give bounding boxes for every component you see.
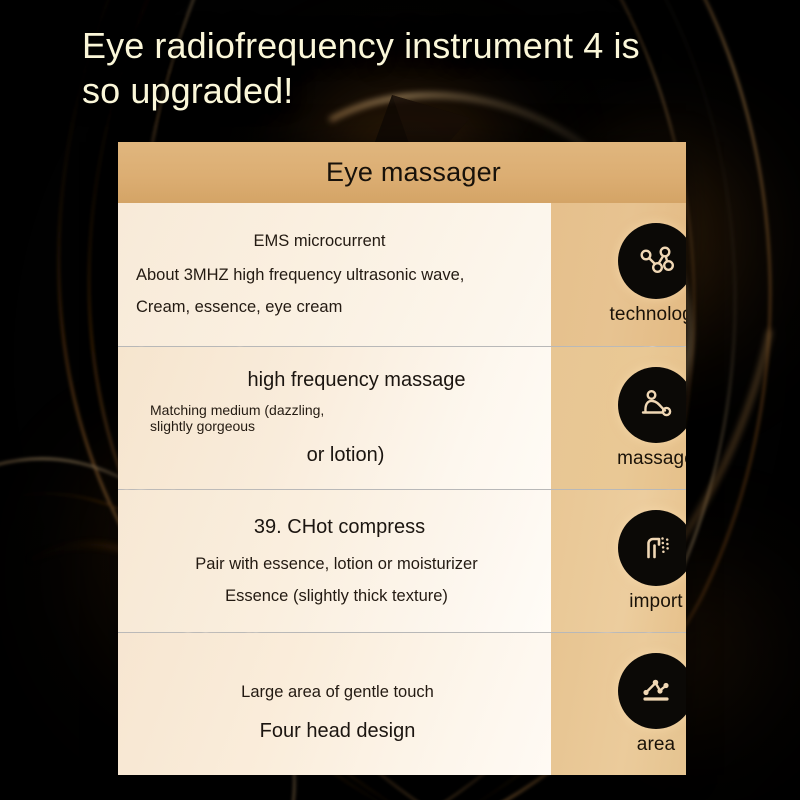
spec-table-title: Eye massager [326,157,501,188]
area-icon [618,653,686,729]
table-row: Large area of gentle touch Four head des… [118,632,686,775]
row-icon-cell: technology [551,203,686,346]
table-row: 39. CHot compress Pair with essence, lot… [118,489,686,632]
row-icon-cell: area [551,633,686,775]
row-text-cell: Large area of gentle touch Four head des… [118,633,551,775]
headline-line-2: so upgraded! [82,69,742,114]
row-detail-line: or lotion) [132,443,541,468]
technology-icon [618,223,686,299]
row-text-cell: high frequency massage Matching medium (… [118,347,551,489]
row-title: high frequency massage [132,368,541,393]
row-title: EMS microcurrent [132,231,541,252]
row-detail-line: Cream, essence, eye cream [132,297,541,318]
row-icon-caption: technology [610,304,686,326]
row-title: Large area of gentle touch [132,682,541,703]
row-icon-caption: area [637,734,675,756]
massage-icon [618,367,686,443]
spec-table-card: Eye massager EMS microcurrent About 3MHZ… [118,142,686,775]
row-icon-cell: massage [551,347,686,489]
row-text-cell: EMS microcurrent About 3MHZ high frequen… [118,203,551,346]
table-row: high frequency massage Matching medium (… [118,346,686,489]
row-text-cell: 39. CHot compress Pair with essence, lot… [118,490,551,632]
spec-table-header: Eye massager [118,142,686,203]
row-detail-line: Four head design [132,719,541,744]
row-detail-line: About 3MHZ high frequency ultrasonic wav… [132,265,541,286]
row-icon-caption: massage [617,448,686,470]
import-icon [618,510,686,586]
spec-table-body: EMS microcurrent About 3MHZ high frequen… [118,203,686,775]
table-row: EMS microcurrent About 3MHZ high frequen… [118,203,686,346]
row-note: Matching medium (dazzling, slightly gorg… [132,402,541,434]
row-icon-caption: import [629,591,682,613]
headline-line-1: Eye radiofrequency instrument 4 is [82,24,742,69]
row-detail-line: Pair with essence, lotion or moisturizer [132,554,541,575]
poster-headline: Eye radiofrequency instrument 4 is so up… [82,24,742,113]
poster-canvas: Eye radiofrequency instrument 4 is so up… [0,0,800,800]
row-title: 39. CHot compress [132,515,541,540]
row-detail-line: Essence (slightly thick texture) [132,586,541,607]
row-icon-cell: import [551,490,686,632]
